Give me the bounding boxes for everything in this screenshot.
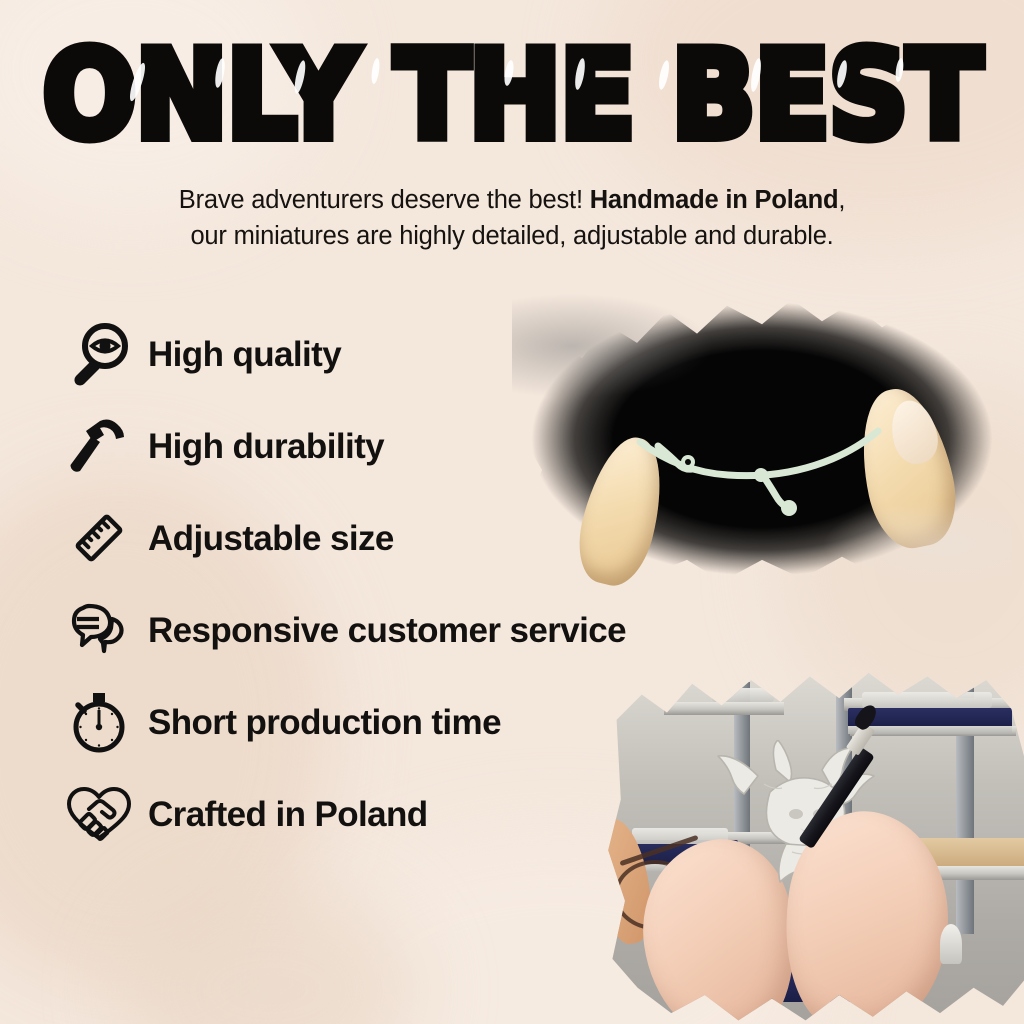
subtitle-line-1: Brave adventurers deserve the best! Hand…: [60, 182, 964, 218]
shelf-beam: [664, 702, 784, 715]
heart-handshake-icon: [62, 777, 136, 851]
stopwatch-icon: [62, 685, 136, 759]
promo-graphic: ONLY THE BEST Brave adventurers deserve …: [0, 0, 1024, 1024]
workshop-painting-photo: [604, 662, 1024, 1024]
stored-miniatures: [712, 688, 774, 702]
subtitle-emphasis: Handmade in Poland: [590, 186, 839, 214]
feature-label: High quality: [148, 337, 341, 372]
flexible-miniature-photo: [512, 284, 1012, 594]
feature-label: High durability: [148, 429, 384, 464]
hammer-icon: [62, 409, 136, 483]
subtitle-lead: Brave adventurers deserve the best!: [179, 186, 590, 214]
feature-label: Responsive customer service: [148, 613, 626, 648]
magnifier-eye-icon: [62, 317, 136, 391]
stored-miniatures: [862, 692, 992, 708]
subtitle-line-2: our miniatures are highly detailed, adju…: [60, 218, 964, 254]
feature-label: Short production time: [148, 705, 501, 740]
page-title: ONLY THE BEST: [0, 36, 1024, 144]
subtitle-tail: ,: [838, 186, 845, 214]
page-title-text: ONLY THE BEST: [43, 36, 981, 157]
speech-bubbles-icon: [62, 593, 136, 667]
workshop-scene: [604, 662, 1024, 1024]
feature-label: Crafted in Poland: [148, 797, 428, 832]
single-miniature: [940, 924, 962, 964]
subtitle: Brave adventurers deserve the best! Hand…: [60, 182, 964, 254]
feature-label: Adjustable size: [148, 521, 394, 556]
ruler-icon: [62, 501, 136, 575]
